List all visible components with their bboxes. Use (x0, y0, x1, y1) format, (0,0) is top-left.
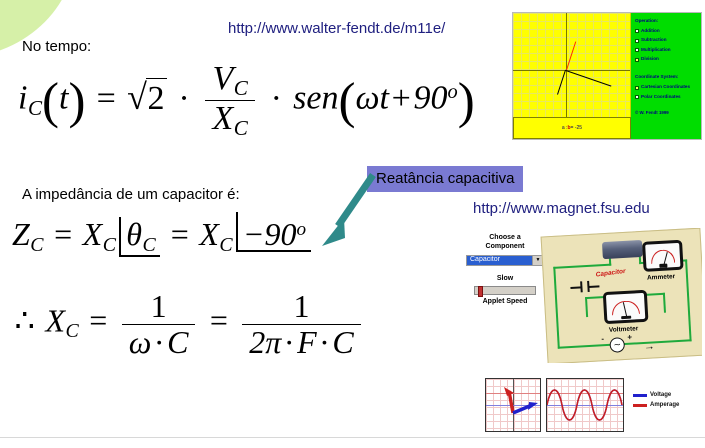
vector-black (565, 70, 611, 87)
vector-red (566, 42, 576, 71)
applet-credit: © W. Fendt 1999 (635, 110, 697, 117)
option-label-multiplication: Multiplication (641, 47, 671, 54)
ammeter-nub (659, 264, 667, 268)
wire-volt-left (585, 297, 588, 317)
eq2-angle-value: −90o (236, 212, 311, 252)
link-magnet-fsu[interactable]: http://www.magnet.fsu.edu (473, 200, 650, 217)
legend-item-voltage: Voltage (633, 392, 679, 398)
eq1-fraction: VC XC (205, 62, 255, 140)
option-cartesian[interactable]: Cartesian Coordinates (635, 84, 697, 91)
eq3-den1-c: C (167, 324, 188, 360)
ac-source-symbol: ∼ (609, 337, 625, 353)
ammeter-face (645, 243, 680, 269)
label-impedancia: A impedância de um capacitor é: (22, 186, 240, 203)
coordinate-heading: Coordinate System: (635, 74, 697, 81)
equation-instantaneous-current: iC(t) = 2 · VC XC · sen(ωt+90o) (18, 62, 475, 140)
eq2-x2-sub: C (219, 234, 233, 256)
capacitor-caption: Capacitor (595, 268, 626, 279)
eq2-angle-theta: θC (119, 217, 160, 257)
vector-applet-screenshot: a : b = -25 Operation: Addition Subtract… (512, 12, 702, 140)
eq1-num-sub: C (233, 76, 248, 100)
vector-graph-column: a : b = -25 (513, 13, 631, 139)
eq1-frac-num: VC (205, 62, 255, 100)
current-direction-arrow-icon: → (644, 341, 656, 353)
legend-label-voltage: Voltage (650, 392, 671, 398)
eq1-func-sen: sen (293, 80, 338, 117)
eq1-paren2-open: ( (338, 73, 355, 129)
source-minus-sign: - (601, 334, 604, 343)
legend-swatch-amperage (633, 404, 647, 407)
wire-left (553, 267, 560, 349)
eq1-dot1: · (176, 80, 193, 117)
eq3-den1-omega: ω (129, 324, 152, 360)
eq3-den2-two: 2 (249, 324, 265, 360)
legend-label-amperage: Amperage (650, 402, 679, 408)
radio-icon-cartesian[interactable] (635, 86, 639, 90)
eq2-equals: = (52, 216, 75, 252)
choose-component-line1: Choose a (466, 234, 544, 243)
option-division[interactable]: Division (635, 56, 697, 63)
eq1-i-sub: C (27, 96, 42, 120)
eq1-num-v: V (212, 60, 233, 97)
vector-plot-area (513, 13, 631, 117)
circuit-controls: Choose a Component Capacitor ▼ Slow Appl… (466, 234, 544, 307)
eq3-den2-dot2: · (317, 324, 333, 360)
eq3-den2-dot1: · (281, 324, 297, 360)
vector-black-2 (557, 70, 566, 95)
slider-thumb[interactable] (478, 286, 483, 297)
eq3-den2-c: C (332, 324, 353, 360)
circuit-board: Capacitor Ammeter Voltmeter - ∼ + → (541, 228, 702, 363)
ammeter-label: Ammeter (647, 273, 676, 282)
link-walter-fendt[interactable]: http://www.walter-fendt.de/m11e/ (228, 20, 445, 37)
eq3-num1: 1 (122, 290, 196, 324)
eq1-omega: ω (355, 80, 379, 117)
eq2-z-sub: C (30, 234, 44, 256)
status-suffix: = -25 (571, 125, 583, 131)
eq3-equals: = (87, 302, 110, 338)
wire-right (685, 259, 692, 341)
legend-swatch-voltage (633, 394, 647, 397)
option-polar[interactable]: Polar Coordinates (635, 94, 697, 101)
eq3-num2: 1 (242, 290, 360, 324)
callout-reatancia-capacitiva: Reatância capacitiva (367, 166, 523, 192)
waveform-legend: Voltage Amperage (633, 378, 679, 412)
panel-spacer (635, 65, 697, 74)
eq1-equals: = (94, 80, 119, 117)
component-select-dropdown[interactable]: Capacitor ▼ (466, 255, 544, 266)
eq1-paren-open: ( (42, 73, 59, 129)
voltmeter-nub (622, 316, 631, 320)
eq3-den1-dot: · (151, 324, 167, 360)
callout-arrow-icon (318, 170, 378, 250)
choose-component-line2: Component (466, 243, 544, 252)
wave-traces (547, 379, 623, 431)
phasor-arrows (486, 379, 540, 431)
eq3-x-sub: C (65, 320, 79, 342)
wire-top-left (553, 264, 611, 269)
eq2-x-sub: C (102, 234, 116, 256)
radio-icon-polar[interactable] (635, 95, 639, 99)
equation-impedance: ZC = XCθC = XC−90o (12, 212, 311, 257)
eq3-x: X (45, 302, 65, 338)
bottom-divider (0, 437, 705, 438)
radio-icon-multiplication[interactable] (635, 48, 639, 52)
source-plus-sign: + (627, 333, 632, 342)
eq2-degree: o (296, 219, 306, 240)
option-subtraction[interactable]: Subtraction (635, 37, 697, 44)
eq3-therefore: ∴ (12, 302, 37, 338)
phasor-scope (485, 378, 541, 432)
applet-speed-slider[interactable] (474, 286, 536, 295)
option-label-division: Division (641, 56, 659, 63)
option-multiplication[interactable]: Multiplication (635, 47, 697, 54)
radio-icon-addition[interactable] (635, 29, 639, 33)
operation-heading: Operation: (635, 18, 697, 25)
radio-icon-subtraction[interactable] (635, 39, 639, 43)
label-no-tempo: No tempo: (22, 38, 91, 55)
ammeter-arc (650, 249, 675, 264)
eq1-den-sub: C (233, 116, 248, 140)
eq1-dot2: · (268, 80, 285, 117)
speed-label-caption: Applet Speed (466, 298, 544, 307)
capacitor-lead-2 (588, 285, 599, 287)
option-label-addition: Addition (641, 28, 660, 35)
option-label-subtraction: Subtraction (641, 37, 667, 44)
voltmeter (603, 290, 649, 324)
speed-label-slow: Slow (466, 275, 544, 284)
eq2-theta: θ (126, 216, 142, 252)
eq2-z: Z (12, 216, 30, 252)
eq1-paren2-close: ) (458, 73, 475, 129)
eq2-angle-number: −90 (243, 216, 297, 252)
eq1-t: t (379, 80, 388, 117)
eq1-frac-den: XC (205, 100, 255, 139)
circuit-applet-screenshot: Choose a Component Capacitor ▼ Slow Appl… (462, 228, 702, 363)
voltmeter-face (606, 293, 645, 321)
eq3-den2-pi: π (265, 324, 281, 360)
vector-options-panel: Operation: Addition Subtraction Multipli… (631, 13, 701, 139)
component-select-value: Capacitor (467, 256, 532, 265)
eq3-equals2: = (207, 302, 230, 338)
eq1-phase: 90 (414, 80, 448, 117)
capacitor-component (602, 240, 643, 259)
radio-icon-division[interactable] (635, 58, 639, 62)
vector-status-bar: a : b = -25 (513, 117, 631, 139)
eq1-sqrt-value: 2 (146, 78, 167, 118)
equation-capacitive-reactance: ∴ XC = 1 ω·C = 1 2π·F·C (12, 290, 365, 358)
waveform-scope (546, 378, 624, 432)
eq3-fraction-2: 1 2π·F·C (242, 290, 360, 358)
eq1-plus: + (389, 80, 414, 117)
wire-volt-right (663, 293, 666, 313)
eq3-den2-f: F (297, 324, 317, 360)
eq2-x2: X (199, 216, 219, 252)
eq2-x: X (83, 216, 103, 252)
eq3-den2: 2π·F·C (242, 324, 360, 359)
eq2-equals2: = (168, 216, 191, 252)
option-addition[interactable]: Addition (635, 28, 697, 35)
eq2-theta-sub: C (142, 234, 156, 256)
voltmeter-label: Voltmeter (609, 325, 639, 334)
waveform-strip: Voltage Amperage (485, 378, 705, 436)
eq1-paren-close: ) (68, 73, 85, 129)
eq1-degree: o (448, 81, 458, 103)
eq1-sqrt: 2 (127, 78, 167, 118)
ammeter (642, 240, 684, 272)
option-label-cartesian: Cartesian Coordinates (641, 84, 690, 91)
eq1-den-x: X (212, 100, 233, 137)
eq3-den1: ω·C (122, 324, 196, 359)
option-label-polar: Polar Coordinates (641, 94, 681, 101)
eq3-fraction-1: 1 ω·C (122, 290, 196, 358)
legend-item-amperage: Amperage (633, 402, 679, 408)
